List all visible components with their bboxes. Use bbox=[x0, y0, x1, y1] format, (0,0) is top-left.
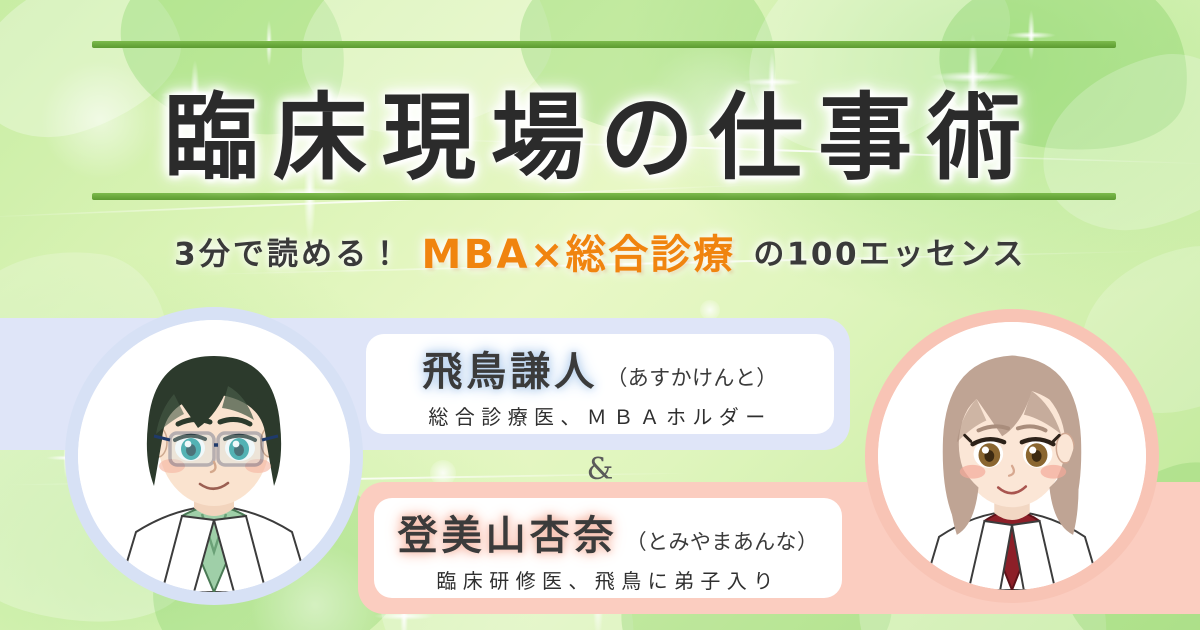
person-role: 臨床研修医、飛鳥に弟子入り bbox=[374, 565, 842, 594]
avatar-asuka bbox=[78, 320, 350, 592]
page-title: 臨床現場の仕事術 bbox=[0, 62, 1200, 198]
person-role: 総合診療医、ＭＢＡホルダー bbox=[366, 401, 834, 430]
profile-card-asuka: 飛鳥謙人 （あすかけんと） 総合診療医、ＭＢＡホルダー bbox=[366, 334, 834, 434]
female-resident-avatar-icon bbox=[878, 322, 1146, 590]
subtitle-highlight: MBA×総合診療 bbox=[421, 232, 735, 278]
male-doctor-avatar-icon bbox=[78, 320, 350, 592]
name-row: 飛鳥謙人 （あすかけんと） bbox=[366, 339, 834, 397]
banner-root: 臨床現場の仕事術 3分で読める！MBA×総合診療の100エッセンス 飛鳥謙人 （… bbox=[0, 0, 1200, 630]
profile-card-tomiyama: 登美山杏奈 （とみやまあんな） 臨床研修医、飛鳥に弟子入り bbox=[374, 498, 842, 598]
subtitle-tail: の100エッセンス bbox=[753, 237, 1025, 273]
name-row: 登美山杏奈 （とみやまあんな） bbox=[374, 503, 842, 561]
bokeh-circle bbox=[700, 300, 720, 320]
person-reading: （あすかけんと） bbox=[606, 362, 777, 392]
person-reading: （とみやまあんな） bbox=[626, 526, 819, 556]
person-name: 飛鳥謙人 bbox=[422, 339, 598, 397]
subtitle-lead: 3分で読める！ bbox=[174, 237, 403, 273]
person-name: 登美山杏奈 bbox=[398, 503, 618, 561]
sparkle-star bbox=[1006, 10, 1056, 60]
avatar-tomiyama bbox=[878, 322, 1146, 590]
subtitle: 3分で読める！MBA×総合診療の100エッセンス bbox=[0, 222, 1200, 280]
horizontal-rule-top bbox=[92, 41, 1116, 48]
